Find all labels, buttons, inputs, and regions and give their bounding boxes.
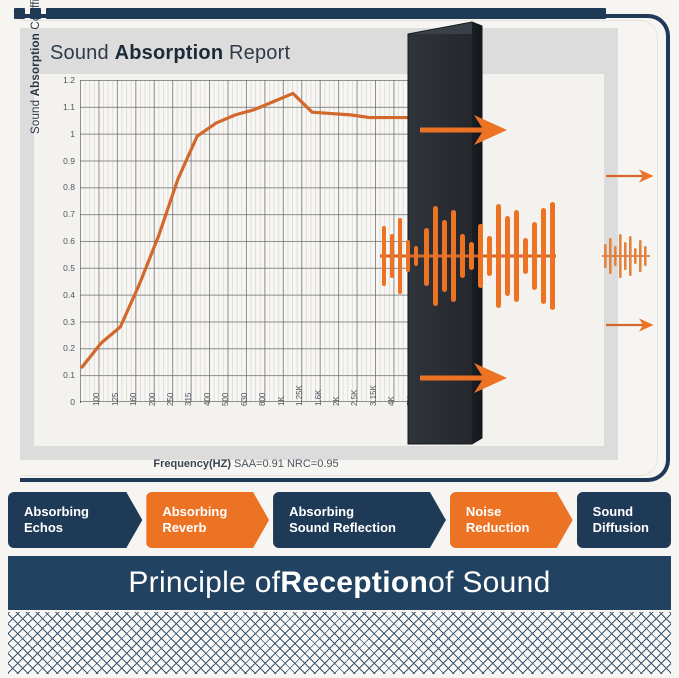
chart-y-tick: 0.1 [63,370,75,380]
title-suffix: Report [223,42,290,64]
banner-prefix: Principle of [128,566,280,600]
process-tab-3[interactable]: Absorbing Sound Reflection [273,492,446,548]
page-title: Sound Absorption Report [50,42,290,65]
lattice-pattern [8,612,671,674]
chart-y-tick: 1 [70,129,75,139]
chart-y-tick: 1.2 [63,75,75,85]
chart-line-series [80,80,412,402]
chart-y-tick: 0.8 [63,182,75,192]
chart-footer: Frequency(HZ) SAA=0.91 NRC=0.95 [80,458,412,470]
chart-y-tick: 0.3 [63,317,75,327]
process-tab-2[interactable]: Absorbing Reverb [146,492,269,548]
saa-value: SAA=0.91 [234,458,284,470]
banner-bold: Reception [280,566,428,600]
chart-y-tick: 0.7 [63,209,75,219]
banner-suffix: of Sound [428,566,551,600]
nrc-value: NRC=0.95 [287,458,339,470]
process-tab-label: Absorbing Echos [24,504,89,535]
acoustic-panel-illustration [378,20,678,470]
chart-y-tick: 0.9 [63,156,75,166]
process-tab-label: Absorbing Reverb [162,504,227,535]
top-decoration [14,8,606,19]
chart-y-tick: 0.6 [63,236,75,246]
chart-y-tick: 0.2 [63,343,75,353]
bottom-banner: Principle of Reception of Sound [8,556,671,610]
title-prefix: Sound [50,42,115,64]
process-tab-label: Noise Reduction [466,504,530,535]
process-tab-5[interactable]: Sound Diffusion [577,492,671,548]
report-page: Sound Absorption Report Sound Absorption… [0,0,679,678]
chart-y-tick: 1.1 [63,102,75,112]
decoration-square-icon [30,8,41,19]
waveform-bars-transmitted [604,234,647,278]
chart-y-tick: 0.5 [63,263,75,273]
decoration-square-icon [14,8,25,19]
title-bold: Absorption [115,42,224,64]
ylabel-bold: Absorption [30,33,42,96]
decoration-bar-icon [46,8,606,19]
process-tab-4[interactable]: Noise Reduction [450,492,573,548]
chart-y-axis-label: Sound Absorption Coefficient [30,0,42,134]
frame-left-mask [0,10,20,486]
chart-series-line [82,93,408,367]
process-tab-1[interactable]: Absorbing Echos [8,492,142,548]
chart-y-tick: 0.4 [63,290,75,300]
chart-x-axis-label: Frequency(HZ) [153,458,231,470]
chart-y-tick: 0 [70,397,75,407]
ylabel-prefix: Sound [30,96,42,134]
process-tab-label: Sound Diffusion [593,504,649,535]
process-tab-label: Absorbing Sound Reflection [289,504,396,535]
process-tabs[interactable]: Absorbing EchosAbsorbing ReverbAbsorbing… [8,492,671,548]
